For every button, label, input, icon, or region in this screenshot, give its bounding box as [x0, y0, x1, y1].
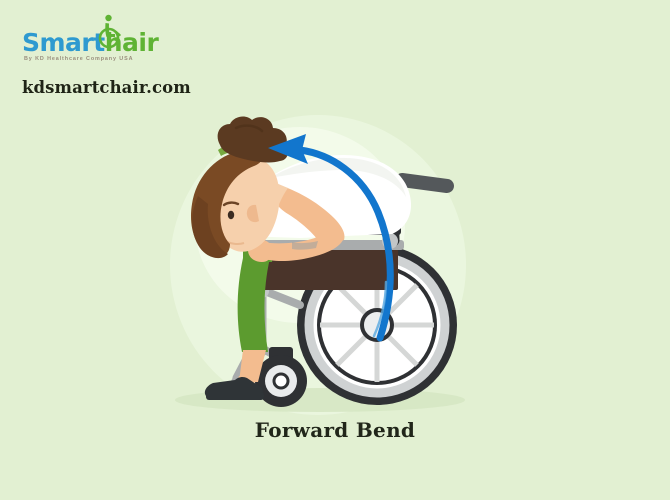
- logo-wordmark: Smarthair: [22, 28, 158, 57]
- logo-word-smart: Smart: [22, 28, 105, 57]
- wheelchair-icon: [96, 14, 122, 48]
- logo-mark: Smarthair By KD Healthcare Company USA: [22, 26, 222, 62]
- exercise-title: Forward Bend: [0, 418, 670, 442]
- site-url[interactable]: kdsmartchair.com: [22, 78, 282, 97]
- footplate: [206, 392, 264, 400]
- brand-logo[interactable]: Smarthair By KD Healthcare Company USA k…: [22, 26, 282, 97]
- logo-tagline: By KD Healthcare Company USA: [24, 56, 133, 62]
- eye: [228, 211, 234, 219]
- push-handle-grip: [402, 180, 447, 186]
- illustration-canvas: Smarthair By KD Healthcare Company USA k…: [0, 0, 670, 500]
